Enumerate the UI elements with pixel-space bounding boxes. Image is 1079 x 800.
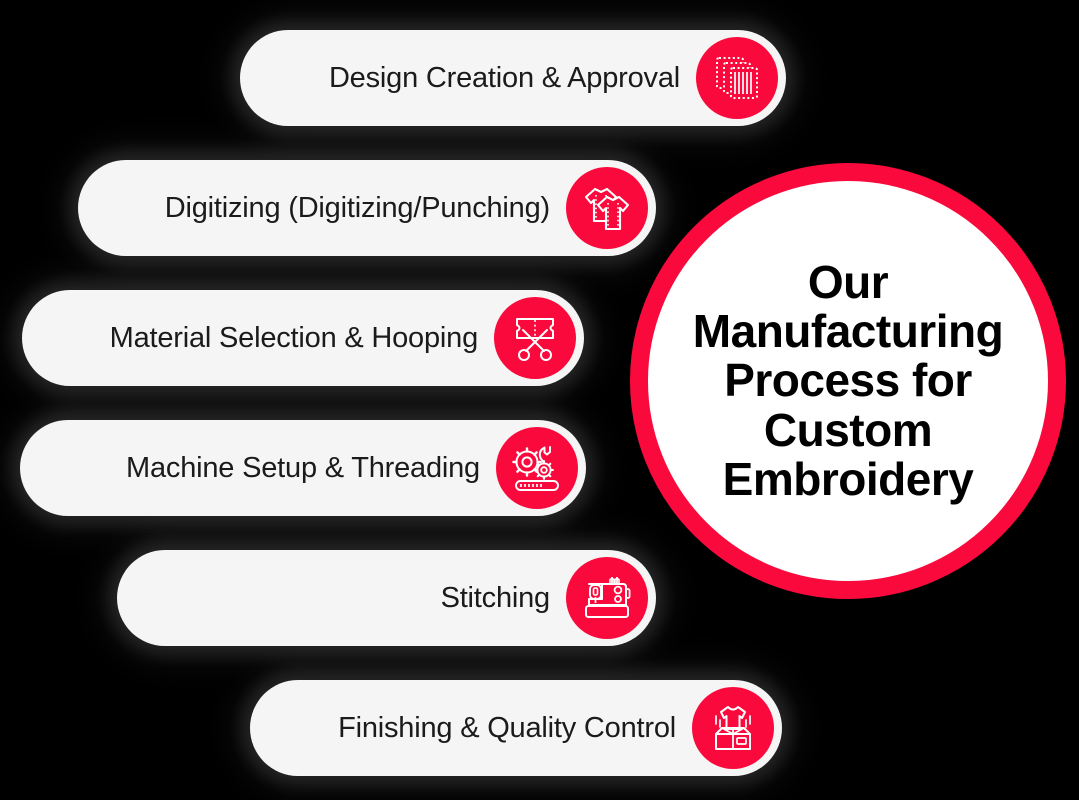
step-label-3: Material Selection & Hooping <box>110 324 494 353</box>
title-line-1: Our <box>668 258 1028 307</box>
step-label-6: Finishing & Quality Control <box>338 714 692 743</box>
infographic-canvas: Design Creation & Approval Digitizing (D… <box>0 0 1079 800</box>
fabric-scissors-icon <box>494 297 576 379</box>
sewing-machine-icon <box>566 557 648 639</box>
page-title: Our Manufacturing Process for Custom Emb… <box>668 258 1028 504</box>
process-step-4[interactable]: Machine Setup & Threading <box>20 420 586 516</box>
title-line-3: Process for <box>668 356 1028 405</box>
hero-title-circle: Our Manufacturing Process for Custom Emb… <box>630 163 1066 599</box>
title-line-4: Custom <box>668 406 1028 455</box>
process-step-1[interactable]: Design Creation & Approval <box>240 30 786 126</box>
step-label-2: Digitizing (Digitizing/Punching) <box>165 194 566 223</box>
process-step-6[interactable]: Finishing & Quality Control <box>250 680 782 776</box>
gears-wrench-progress-icon <box>496 427 578 509</box>
stitched-tshirts-icon <box>566 167 648 249</box>
title-line-5: Embroidery <box>668 455 1028 504</box>
step-label-1: Design Creation & Approval <box>329 64 696 93</box>
process-step-5[interactable]: Stitching <box>117 550 656 646</box>
title-line-2: Manufacturing <box>668 307 1028 356</box>
process-step-2[interactable]: Digitizing (Digitizing/Punching) <box>78 160 656 256</box>
process-step-3[interactable]: Material Selection & Hooping <box>22 290 584 386</box>
tshirt-in-box-icon <box>692 687 774 769</box>
stacked-design-sheets-icon <box>696 37 778 119</box>
step-label-4: Machine Setup & Threading <box>126 454 496 483</box>
step-label-5: Stitching <box>441 584 566 613</box>
